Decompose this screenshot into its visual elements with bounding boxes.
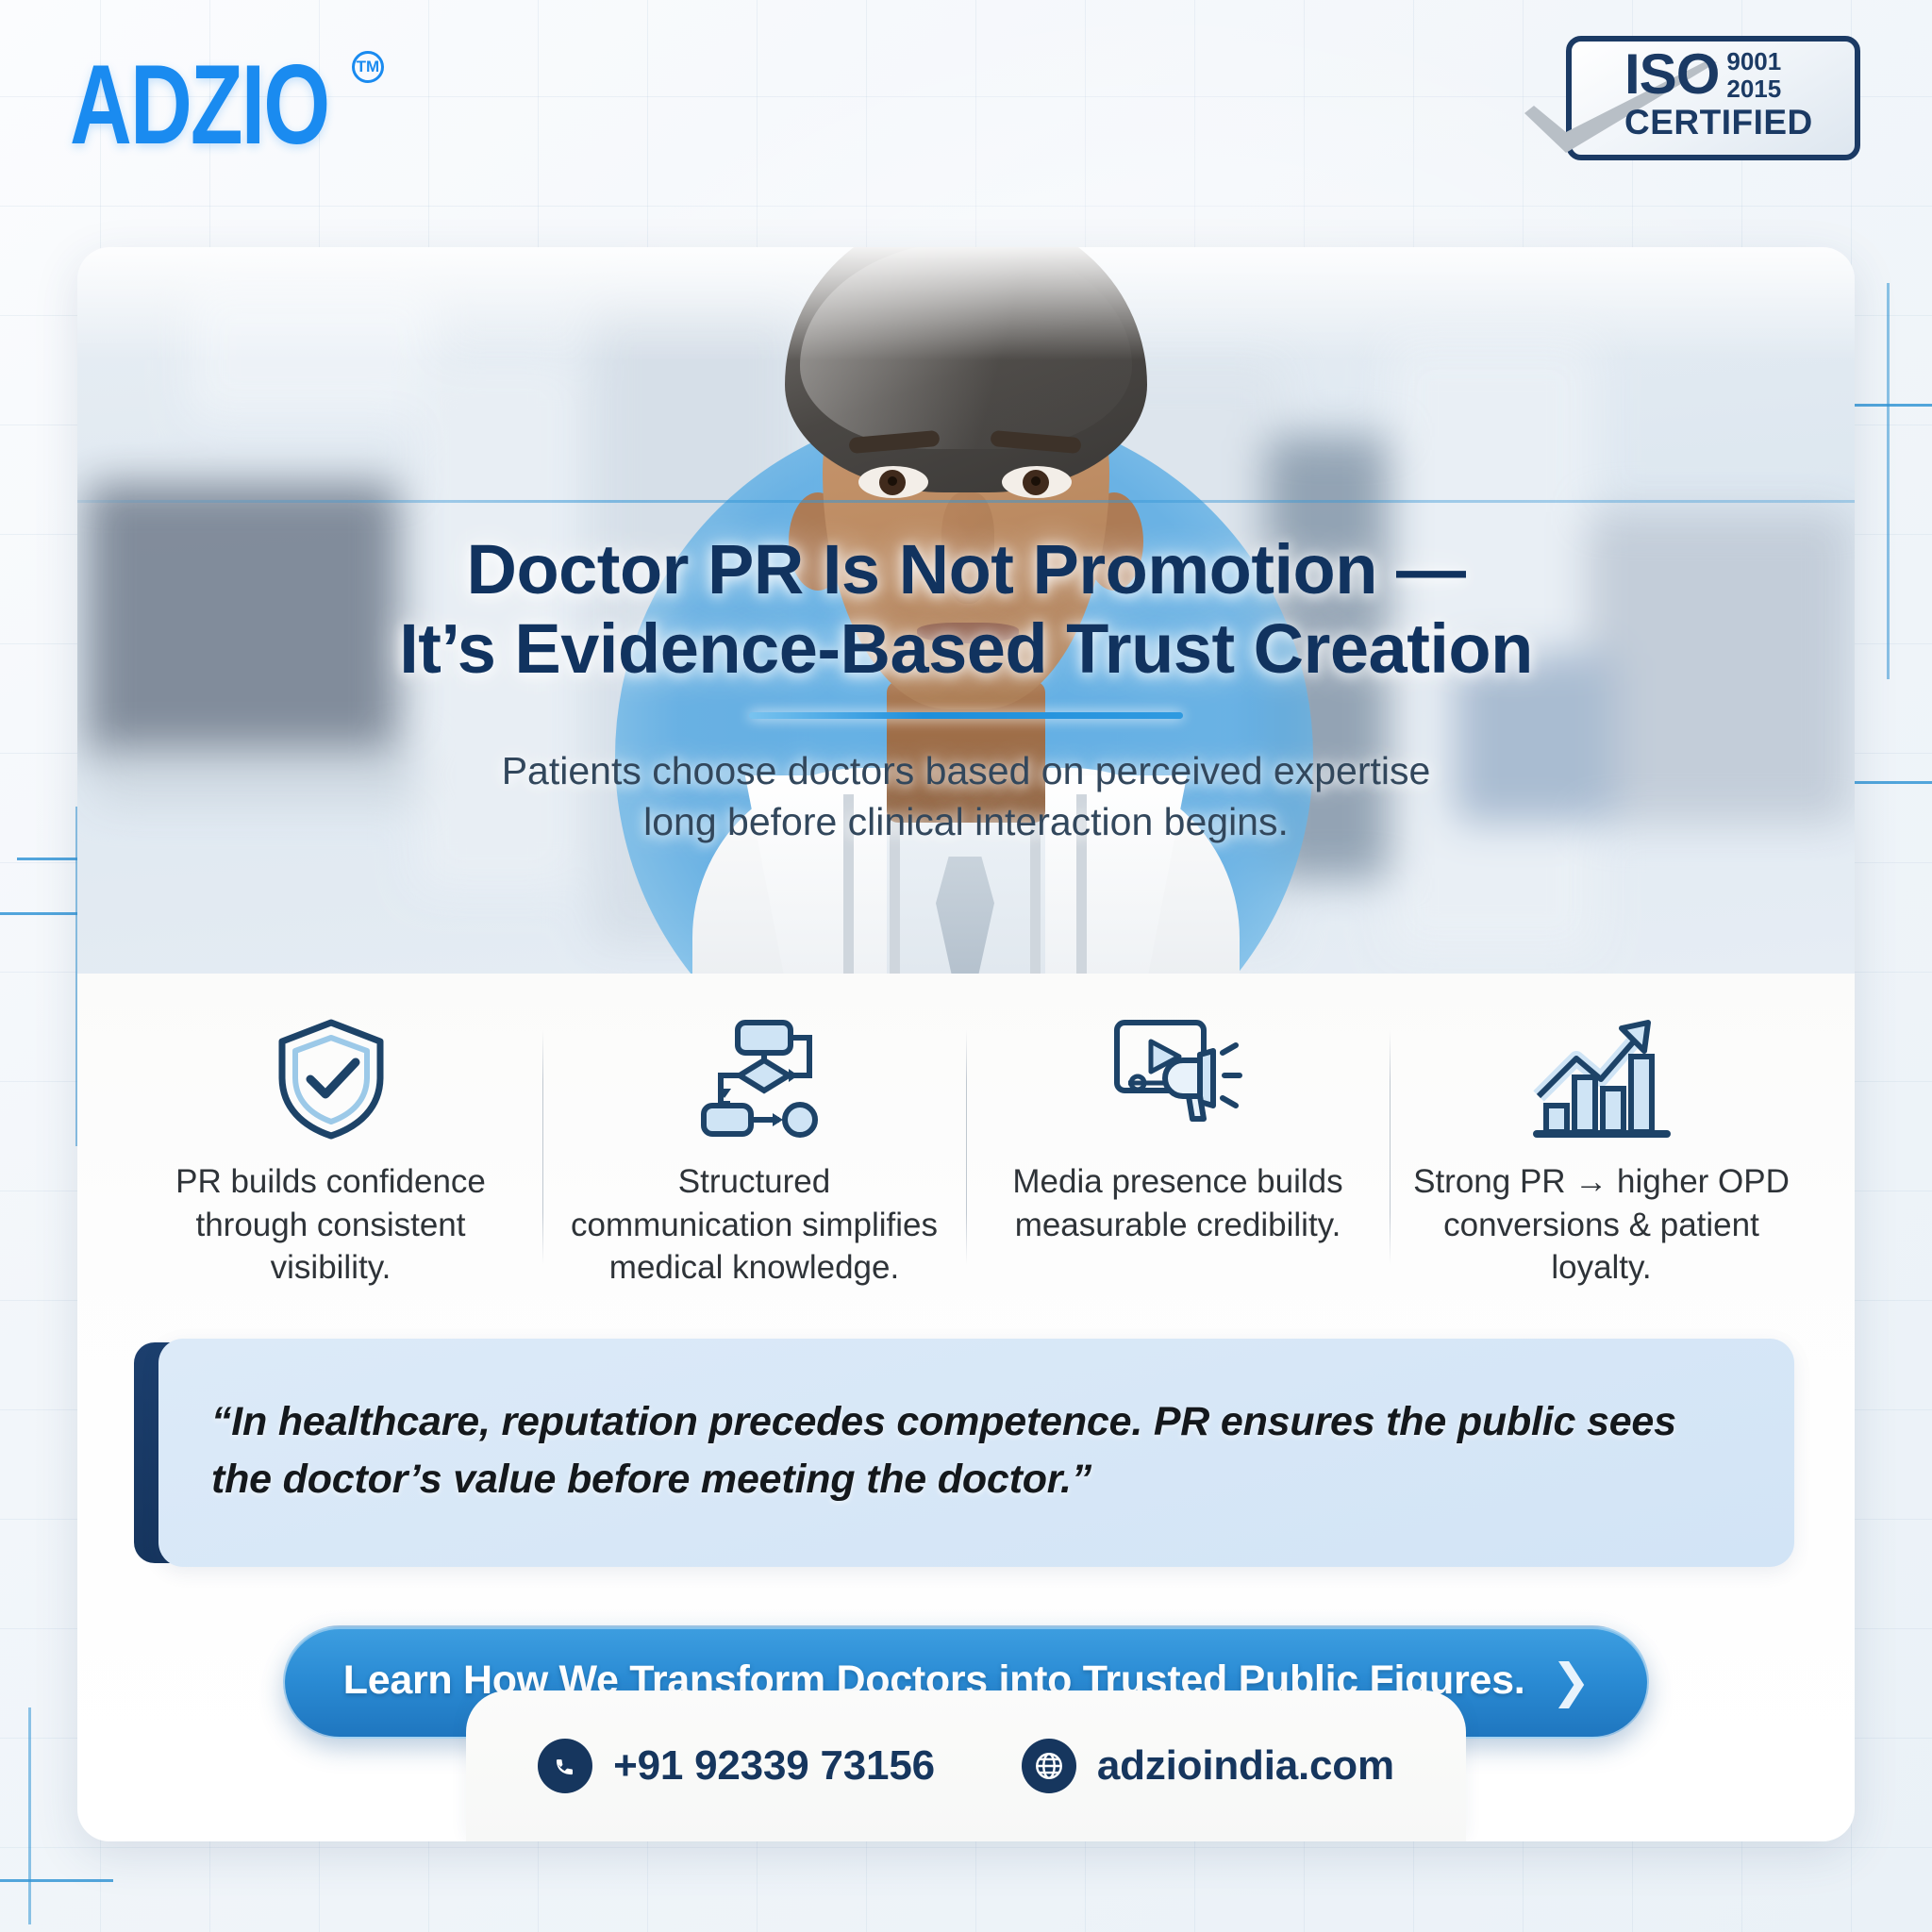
phone-number: +91 92339 73156 — [613, 1742, 935, 1790]
headline-line-2: It’s Evidence-Based Trust Creation — [191, 609, 1741, 689]
poster-canvas: ADZIO TM ISO 9001 2015 CERTIFIED — [0, 0, 1932, 1932]
iso-badge-content: ISO 9001 2015 CERTIFIED — [1566, 36, 1860, 160]
hero-horizontal-accent-line — [77, 500, 1855, 503]
headline-underline — [749, 712, 1183, 719]
hero-section: Doctor PR Is Not Promotion — It’s Eviden… — [77, 247, 1855, 974]
feature-text: PR builds confidence through consistent … — [140, 1160, 522, 1290]
feature-item-media-presence: Media presence builds measurable credibi… — [966, 1017, 1390, 1290]
feature-text: Strong PR → higher OPD conversions & pat… — [1410, 1160, 1792, 1290]
iso-standard-year: 2015 — [1726, 76, 1781, 102]
feature-item-pr-confidence: PR builds confidence through consistent … — [119, 1017, 542, 1290]
chevron-right-icon: ❯ — [1551, 1657, 1591, 1705]
iso-certified-badge: ISO 9001 2015 CERTIFIED — [1566, 36, 1860, 160]
contact-website[interactable]: adzioindia.com — [1022, 1739, 1394, 1793]
brand-logo[interactable]: ADZIO TM — [70, 40, 384, 146]
growth-bar-chart-icon — [1410, 1017, 1792, 1141]
video-megaphone-icon — [987, 1017, 1369, 1141]
feature-row: PR builds confidence through consistent … — [77, 974, 1855, 1290]
feature-text: Structured communication simplifies medi… — [563, 1160, 945, 1290]
hero-copy: Doctor PR Is Not Promotion — It’s Eviden… — [77, 530, 1855, 847]
quote-box: “In healthcare, reputation precedes comp… — [158, 1339, 1794, 1567]
trademark-icon: TM — [352, 51, 384, 83]
shield-check-icon — [140, 1017, 522, 1141]
phone-icon — [538, 1739, 592, 1793]
iso-certified-label: CERTIFIED — [1624, 105, 1845, 140]
quote-text: “In healthcare, reputation precedes comp… — [211, 1393, 1728, 1508]
page-headline: Doctor PR Is Not Promotion — It’s Eviden… — [191, 530, 1741, 688]
hero-top-fade — [77, 247, 1855, 360]
headline-line-1: Doctor PR Is Not Promotion — — [191, 530, 1741, 609]
feature-text: Media presence builds measurable credibi… — [987, 1160, 1369, 1246]
website-url: adzioindia.com — [1097, 1742, 1394, 1790]
page-subheadline: Patients choose doctors based on perceiv… — [191, 745, 1741, 847]
iso-standard-number: 9001 — [1726, 49, 1781, 75]
globe-icon — [1022, 1739, 1076, 1793]
subhead-line-2: long before clinical interaction begins. — [191, 796, 1741, 847]
feature-item-opd-conversions: Strong PR → higher OPD conversions & pat… — [1390, 1017, 1813, 1290]
quote-block: “In healthcare, reputation precedes comp… — [134, 1339, 1794, 1567]
main-card: Doctor PR Is Not Promotion — It’s Eviden… — [77, 247, 1855, 1841]
contact-footer: +91 92339 73156 adzioindia.com — [466, 1690, 1466, 1841]
iso-label: ISO — [1624, 47, 1719, 101]
feature-item-structured-communication: Structured communication simplifies medi… — [542, 1017, 966, 1290]
subhead-line-1: Patients choose doctors based on perceiv… — [191, 745, 1741, 796]
flowchart-icon — [563, 1017, 945, 1141]
brand-logo-text: ADZIO — [70, 40, 328, 170]
contact-phone[interactable]: +91 92339 73156 — [538, 1739, 935, 1793]
body-section: PR builds confidence through consistent … — [77, 974, 1855, 1795]
